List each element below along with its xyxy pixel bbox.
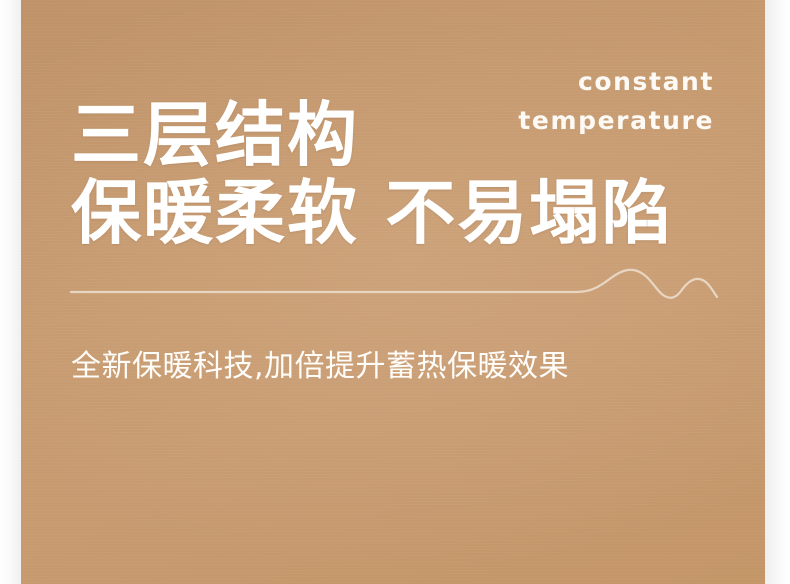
wavy-divider-icon <box>71 266 719 306</box>
subtitle-text: 全新保暖科技,加倍提升蓄热保暖效果 <box>71 347 569 387</box>
headline-line-1: 三层结构 <box>71 96 673 174</box>
promo-banner: constant temperature 三层结构 保暖柔软 不易塌陷 全新保暖… <box>0 0 790 584</box>
wavy-divider <box>71 266 719 306</box>
headline: 三层结构 保暖柔软 不易塌陷 <box>71 96 673 252</box>
headline-line-2: 保暖柔软 不易塌陷 <box>71 174 673 252</box>
page-edge-right <box>764 0 790 584</box>
